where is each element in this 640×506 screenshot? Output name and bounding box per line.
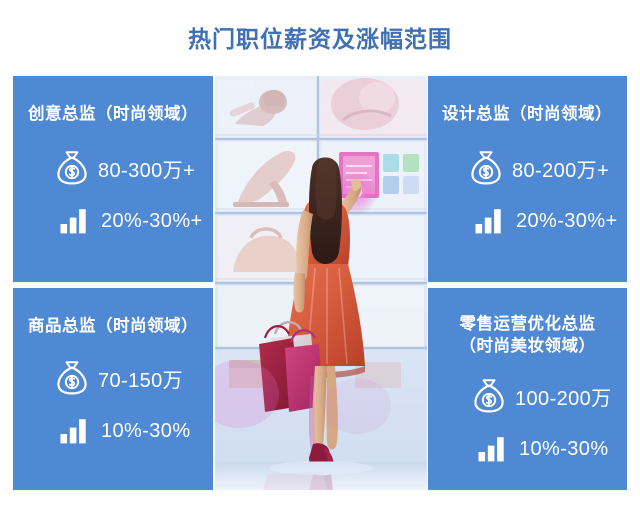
- salary-metric-row: 80-300万+: [55, 150, 195, 186]
- salary-value: 80-300万+: [98, 154, 195, 183]
- job-card-creative-director[interactable]: 创意总监（时尚领域） 80-300万+: [13, 76, 213, 282]
- salary-value: 100-200万: [515, 382, 612, 411]
- salary-metric-row: 100-200万: [472, 378, 612, 414]
- money-bag-icon: [55, 360, 89, 396]
- shopping-woman-interactive-display-photo: [215, 76, 427, 490]
- salary-metric-row: 80-200万+: [469, 150, 609, 186]
- growth-metric-row: 10%-30%: [478, 436, 609, 462]
- growth-value: 10%-30%: [519, 438, 609, 461]
- page-title-text: 热门职位薪资及涨幅范围: [188, 20, 452, 54]
- infographic-root: 热门职位薪资及涨幅范围 创意总监（时尚领域） 80-300万+: [0, 0, 640, 506]
- job-card-title-line2: （时尚美妆领域）: [428, 336, 627, 358]
- growth-value: 10%-30%: [101, 420, 191, 443]
- salary-value: 80-200万+: [512, 154, 609, 183]
- job-card-title: 商品总监（时尚领域）: [28, 316, 198, 338]
- growth-metric-row: 20%-30%+: [60, 208, 203, 234]
- bar-chart-icon: [60, 208, 88, 234]
- job-card-retail-operations-director[interactable]: 零售运营优化总监 （时尚美妆领域） 100-200万: [428, 288, 627, 490]
- job-card-title: 零售运营优化总监 （时尚美妆领域）: [428, 314, 627, 358]
- page-title: 热门职位薪资及涨幅范围: [0, 0, 640, 74]
- bar-chart-icon: [478, 436, 506, 462]
- bar-chart-icon: [475, 208, 503, 234]
- job-card-title: 设计总监（时尚领域）: [442, 104, 612, 126]
- job-card-design-director[interactable]: 设计总监（时尚领域） 80-200万+: [428, 76, 627, 282]
- job-card-title: 创意总监（时尚领域）: [28, 104, 198, 126]
- growth-metric-row: 10%-30%: [60, 418, 191, 444]
- growth-value: 20%-30%+: [101, 210, 203, 233]
- growth-metric-row: 20%-30%+: [475, 208, 618, 234]
- bar-chart-icon: [60, 418, 88, 444]
- salary-value: 70-150万: [98, 364, 183, 393]
- money-bag-icon: [55, 150, 89, 186]
- salary-metric-row: 70-150万: [55, 360, 183, 396]
- growth-value: 20%-30%+: [516, 210, 618, 233]
- money-bag-icon: [469, 150, 503, 186]
- job-card-merchandise-director[interactable]: 商品总监（时尚领域） 70-150万: [13, 288, 213, 490]
- money-bag-icon: [472, 378, 506, 414]
- job-card-title-line1: 零售运营优化总监: [428, 314, 627, 336]
